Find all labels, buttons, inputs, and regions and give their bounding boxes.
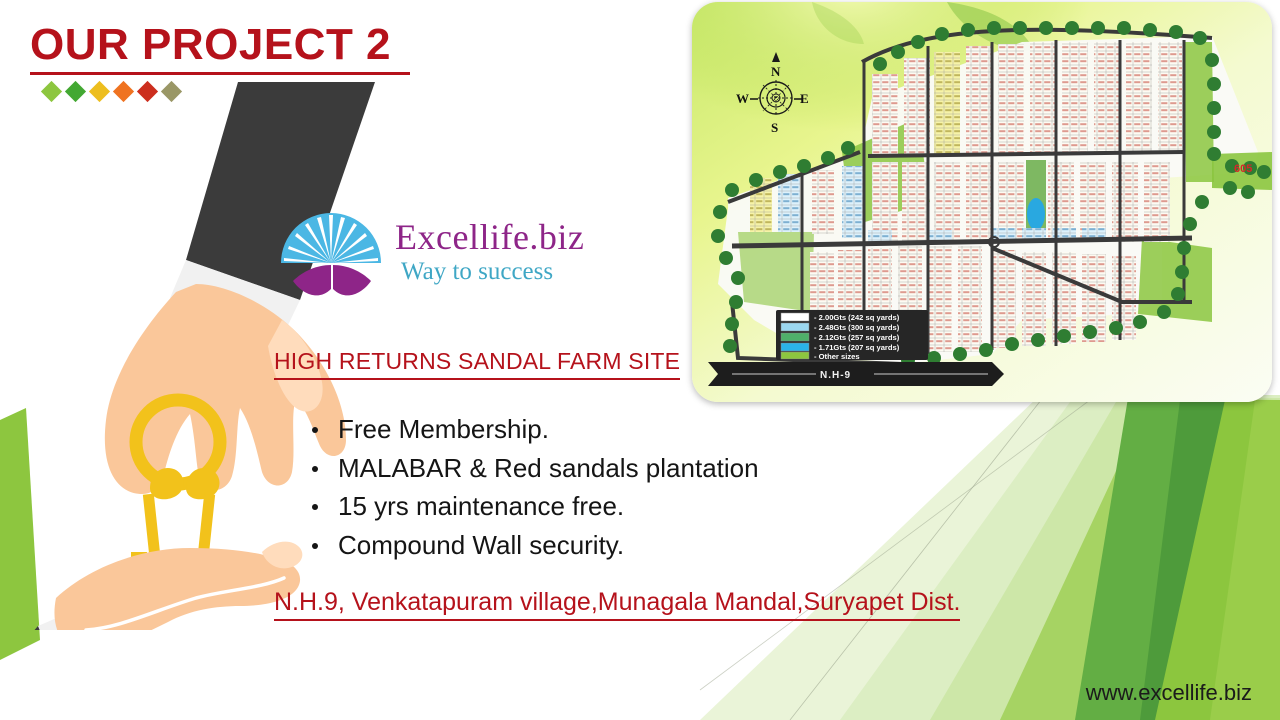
- compass-west: W: [736, 91, 749, 106]
- list-item: Free Membership.: [300, 410, 759, 449]
- key-bow-right: [186, 468, 220, 499]
- site-address: N.H.9, Venkatapuram village,Munagala Man…: [274, 588, 960, 621]
- legend-swatch-3: [781, 343, 809, 351]
- list-item: 15 yrs maintenance free.: [300, 487, 759, 526]
- legend-swatch-0: [781, 313, 809, 321]
- excellife-logo: Excellife.biz Way to success: [277, 196, 607, 306]
- green-shape-pale-2: [840, 395, 1280, 720]
- list-item: MALABAR & Red sandals plantation: [300, 449, 759, 488]
- compass-south: S: [771, 120, 778, 135]
- legend-label: - 1.71Gts (207 sq yards): [814, 343, 900, 352]
- logo-text-block: Excellife.biz Way to success: [395, 219, 584, 284]
- page-title: OUR PROJECT 2: [30, 22, 430, 68]
- highway-bar: N.H-9: [708, 362, 1004, 386]
- sunrise-logo-icon: [277, 199, 385, 303]
- legend-swatch-4: [781, 352, 809, 359]
- legend-swatch-1: [781, 323, 809, 331]
- feature-list: Free Membership. MALABAR & Red sandals p…: [300, 410, 759, 564]
- green-shape-bright-2: [1210, 400, 1280, 720]
- hairline-1: [790, 395, 1045, 720]
- legend-swatch-2: [781, 333, 809, 341]
- website-footer: www.excellife.biz: [1086, 680, 1252, 706]
- green-shape-darker: [1140, 400, 1250, 720]
- green-shape-bright: [1155, 400, 1280, 720]
- green-shape-pale-1: [700, 395, 1280, 720]
- legend-label: - 2.00Gts (242 sq yards): [814, 313, 900, 322]
- road-number-label: 605: [1234, 163, 1252, 175]
- logo-name: Excellife.biz: [395, 219, 584, 255]
- project-layout-map[interactable]: 605 N S E W: [692, 2, 1272, 402]
- highway-label: N.H-9: [820, 370, 851, 381]
- compass-north: N: [771, 64, 781, 79]
- green-belt-bottom-right: [1138, 238, 1212, 322]
- swimming-pool: [1027, 198, 1045, 230]
- green-shape-dark: [1075, 398, 1210, 720]
- legend-label: - Other sizes: [814, 352, 860, 361]
- green-shape-mid: [1000, 398, 1280, 720]
- list-item: Compound Wall security.: [300, 526, 759, 565]
- map-legend: - 2.00Gts (242 sq yards) - 2.48Gts (300 …: [776, 310, 928, 361]
- logo-tagline: Way to success: [401, 259, 584, 284]
- legend-label: - 2.48Gts (300 sq yards): [814, 323, 900, 332]
- green-shape-light: [930, 395, 1280, 720]
- legend-label: - 2.12Gts (257 sq yards): [814, 333, 900, 342]
- lower-hand-open-palm: [54, 548, 300, 630]
- slide-canvas: OUR PROJECT 2: [0, 0, 1280, 720]
- section-headline: HIGH RETURNS SANDAL FARM SITE: [274, 348, 680, 380]
